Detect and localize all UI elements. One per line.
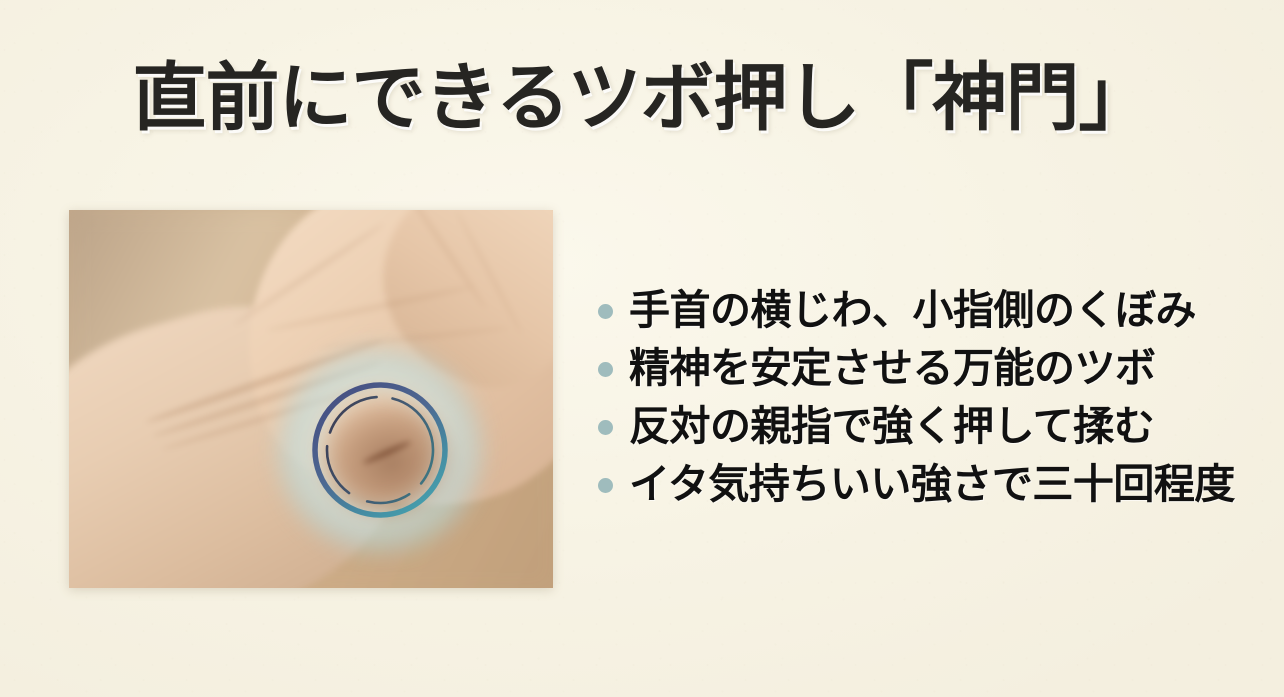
acupoint-hollow bbox=[321, 402, 461, 522]
list-item: 精神を安定させる万能のツボ bbox=[598, 340, 1238, 398]
bullet-dot-icon bbox=[598, 478, 613, 493]
photo-blur-wrapper bbox=[69, 210, 553, 588]
bullet-dot-icon bbox=[598, 420, 613, 435]
acupoint-photo bbox=[69, 210, 553, 588]
page-title: 直前にできるツボ押し「神門」 bbox=[0, 62, 1284, 136]
bullet-list: 手首の横じわ、小指側のくぼみ 精神を安定させる万能のツボ 反対の親指で強く押して… bbox=[598, 282, 1238, 514]
list-item-label: 反対の親指で強く押して揉む bbox=[629, 405, 1154, 448]
list-item-label: イタ気持ちいい強さで三十回程度 bbox=[629, 463, 1235, 506]
list-item-label: 精神を安定させる万能のツボ bbox=[629, 347, 1156, 390]
list-item: イタ気持ちいい強さで三十回程度 bbox=[598, 456, 1238, 514]
list-item-label: 手首の横じわ、小指側のくぼみ bbox=[629, 289, 1196, 332]
list-item: 手首の横じわ、小指側のくぼみ bbox=[598, 282, 1238, 340]
bullet-dot-icon bbox=[598, 362, 613, 377]
list-item: 反対の親指で強く押して揉む bbox=[598, 398, 1238, 456]
slide-root: 直前にできるツボ押し「神門」 bbox=[0, 0, 1284, 697]
bullet-dot-icon bbox=[598, 304, 613, 319]
